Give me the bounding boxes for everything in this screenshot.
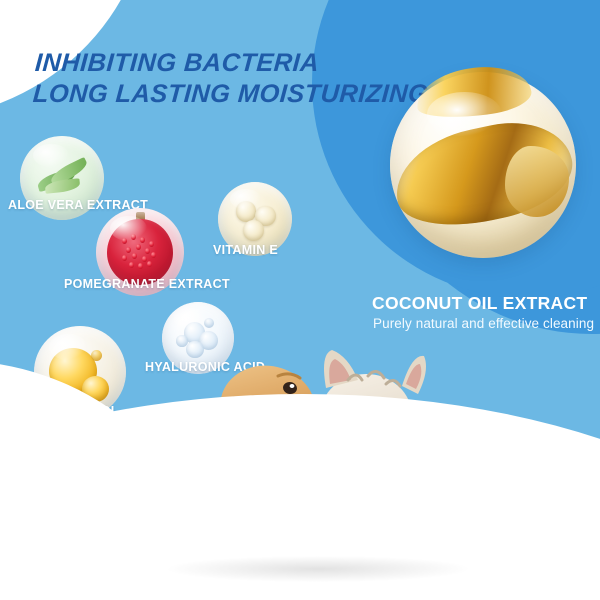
feature-subtitle: Purely natural and effective cleaning <box>373 316 594 331</box>
product-poster: INHIBITING BACTERIA LONG LASTING MOISTUR… <box>0 0 600 600</box>
ingredient-label-vitamin-e: VITAMIN E <box>213 243 278 257</box>
feature-title: COCONUT OIL EXTRACT <box>372 293 587 314</box>
pearl-highlight <box>427 92 501 137</box>
floor-shadow <box>168 556 468 582</box>
bubble-gloss <box>33 144 68 168</box>
coconut-oil-pearl-icon <box>390 72 576 258</box>
headline-line-1: INHIBITING BACTERIA <box>34 49 320 77</box>
ingredient-label-pomegranate: POMEGRANATE EXTRACT <box>64 277 230 291</box>
